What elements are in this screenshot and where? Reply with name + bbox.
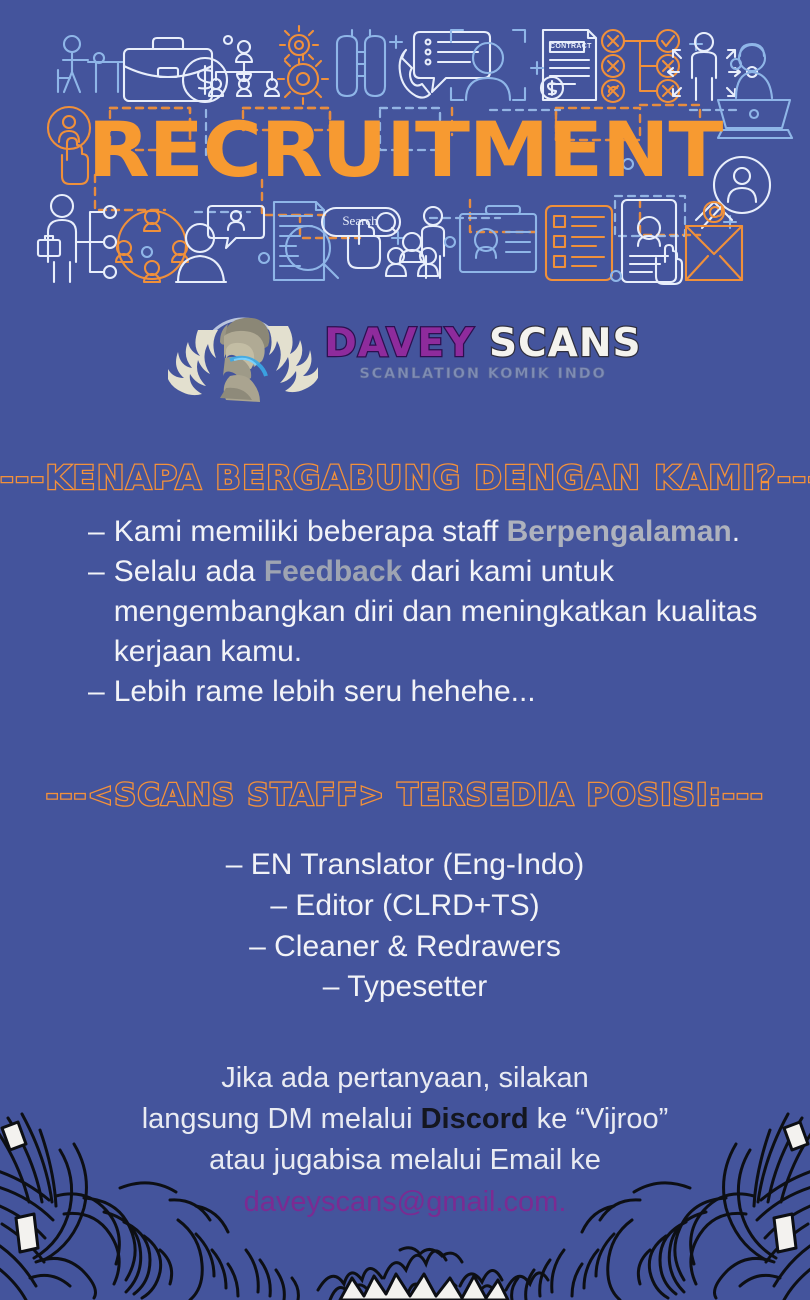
spartan-helmet-flames-icon [168, 300, 318, 406]
text-run: . [732, 515, 740, 548]
text-run: Selalu ada [114, 555, 264, 588]
list-item: – EN Translator (Eng-Indo) [0, 845, 810, 886]
text-run: ke “Vijroo” [529, 1103, 669, 1135]
banner-illustration: RECRUITMENT Search CONTRACT [0, 0, 810, 290]
recruitment-poster: RECRUITMENT Search CONTRACT [0, 0, 810, 1300]
list-dash: – [88, 672, 105, 712]
list-dash: – [88, 552, 105, 592]
brand-logo: DAVEY SCANS SCANLATION KOMIK INDO [0, 300, 810, 406]
contact-line-2: langsung DM melalui Discord ke “Vijroo” [0, 1099, 810, 1140]
contact-email[interactable]: daveyscans@gmail.com. [0, 1182, 810, 1223]
contact-line-1: Jika ada pertanyaan, silakan [0, 1058, 810, 1099]
list-item: – Selalu ada Feedback dari kami untuk me… [88, 552, 788, 672]
logo-davey-text: DAVEY [324, 321, 474, 366]
list-item-text: Kami memiliki beberapa staff Berpengalam… [114, 512, 740, 552]
logo-scans-text: SCANS [489, 321, 642, 366]
contact-block: Jika ada pertanyaan, silakan langsung DM… [0, 1058, 810, 1223]
text-run: langsung DM melalui [142, 1103, 421, 1135]
text-run: Kami memiliki beberapa staff [114, 515, 507, 548]
why-join-list: – Kami memiliki beberapa staff Berpengal… [88, 512, 788, 711]
position-label: – EN Translator (Eng-Indo) [226, 845, 585, 886]
logo-wordmark: DAVEY SCANS SCANLATION KOMIK INDO [324, 324, 641, 383]
position-label: – Typesetter [323, 967, 488, 1008]
positions-list: – EN Translator (Eng-Indo) – Editor (CLR… [0, 845, 810, 1008]
list-item: – Cleaner & Redrawers [0, 927, 810, 968]
list-dash: – [88, 512, 105, 552]
section-heading-why: ---KENAPA BERGABUNG DENGAN KAMI?--- [0, 458, 810, 497]
emphasis-berpengalaman: Berpengalaman [507, 515, 732, 548]
search-chip-label: Search [330, 213, 390, 229]
contract-label: CONTRACT [550, 43, 584, 50]
contact-line-3: atau jugabisa melalui Email ke [0, 1140, 810, 1181]
list-item-text: Lebih rame lebih seru hehehe... [114, 672, 536, 712]
list-item: – Kami memiliki beberapa staff Berpengal… [88, 512, 788, 552]
list-item: – Lebih rame lebih seru hehehe... [88, 672, 788, 712]
section-heading-positions: ---<SCANS STAFF> TERSEDIA POSISI:--- [0, 778, 810, 813]
emphasis-feedback: Feedback [264, 555, 402, 588]
logo-tagline: SCANLATION KOMIK INDO [324, 366, 641, 382]
list-item: – Editor (CLRD+TS) [0, 886, 810, 927]
list-item-text: Selalu ada Feedback dari kami untuk meng… [114, 552, 788, 672]
position-label: – Cleaner & Redrawers [249, 927, 561, 968]
list-item: – Typesetter [0, 967, 810, 1008]
page-title: RECRUITMENT [0, 112, 810, 188]
emphasis-discord: Discord [421, 1103, 529, 1135]
position-label: – Editor (CLRD+TS) [270, 886, 539, 927]
